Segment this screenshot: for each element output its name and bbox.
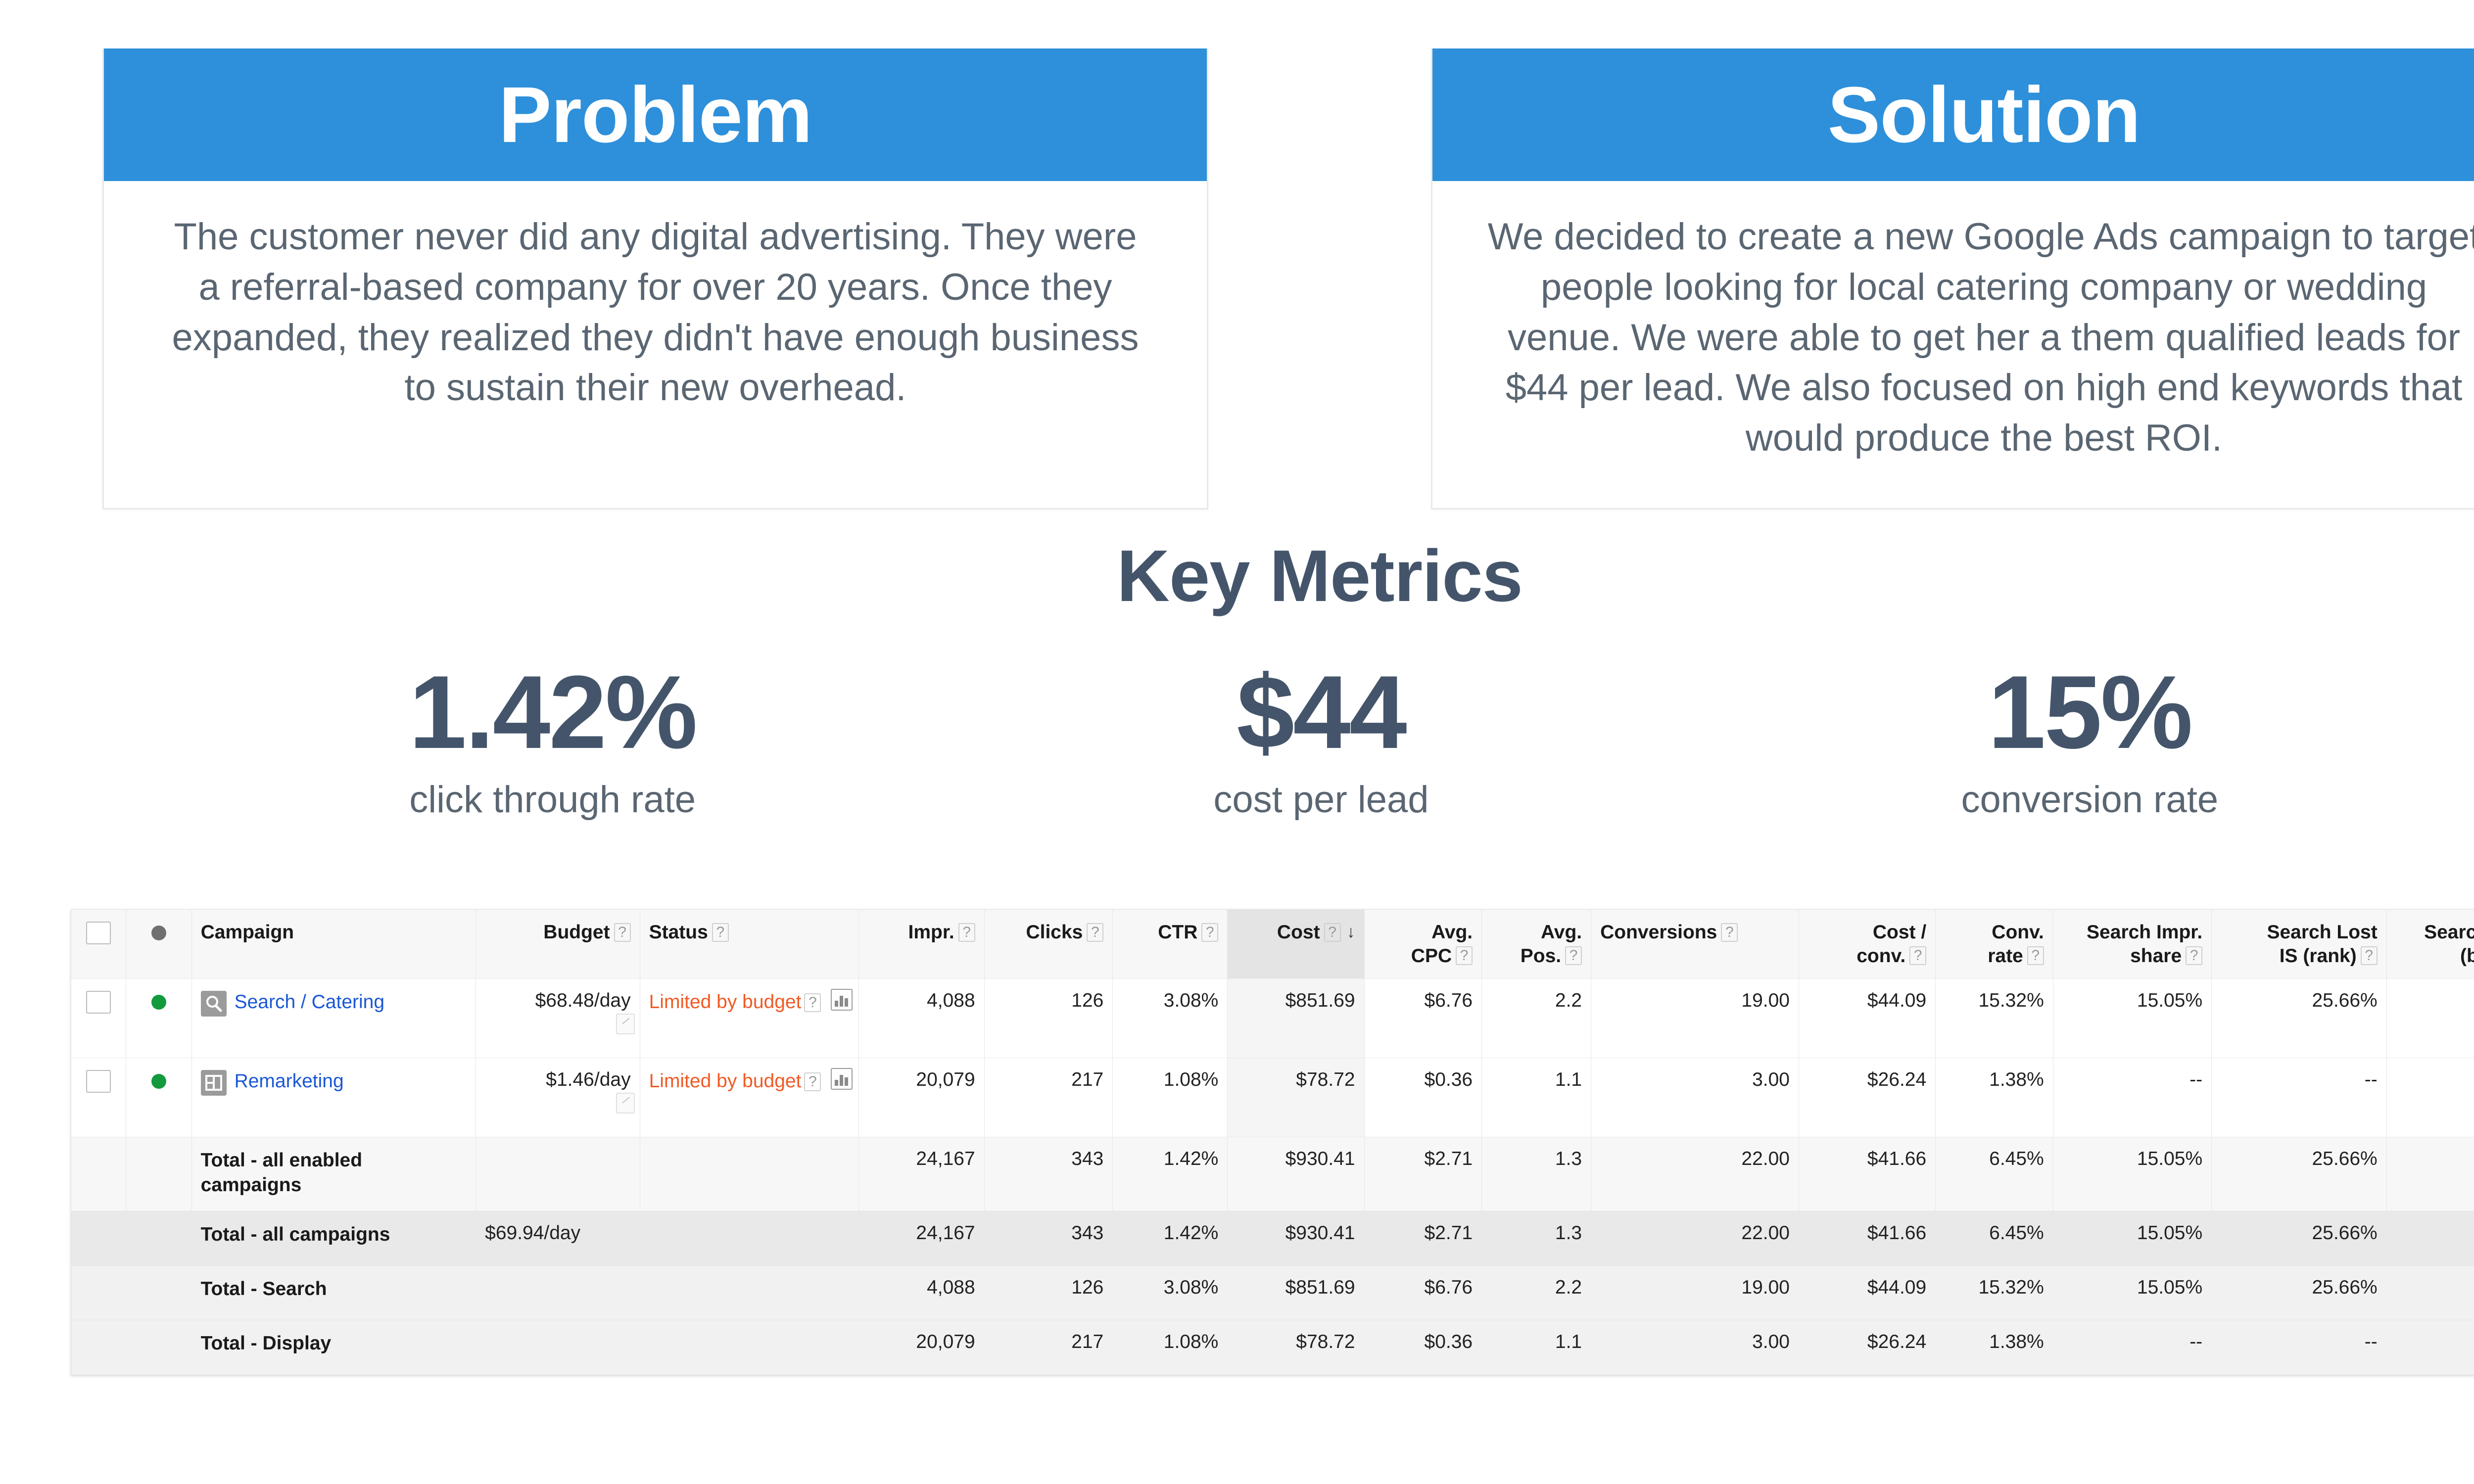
status-cell [640,1320,858,1375]
impressions-cell: 20,079 [858,1320,984,1375]
avg-cpc-cell: $2.71 [1364,1137,1482,1211]
clicks-cell: 217 [984,1058,1113,1137]
table-row[interactable]: Remarketing $1.46/day Limited by budget?… [71,1058,2474,1137]
case-study-page: Problem The customer never did any digit… [0,0,2474,1484]
spacer-cell [71,1266,126,1320]
avg-cpc-cell: $6.76 [1364,979,1482,1058]
avg-cpc-cell: $0.36 [1364,1058,1482,1137]
header-label: Cost [1277,921,1320,944]
search-lost-is-rank-cell: -- [2212,1058,2387,1137]
help-icon[interactable]: ? [1201,923,1218,942]
ctr-cell: 3.08% [1113,979,1228,1058]
header-label: Status [649,921,708,944]
solution-card-header: Solution [1432,48,2474,181]
metric-value: $44 [1024,658,1618,767]
header-label: Cost / [1873,921,1926,944]
cost-cell: $78.72 [1228,1058,1364,1137]
help-icon[interactable]: ? [1324,923,1341,942]
campaign-link[interactable]: Search / Catering [235,990,385,1015]
campaign-link[interactable]: Remarketing [235,1069,344,1094]
metric-click-through-rate: 1.42% click through rate [256,658,850,821]
row-checkbox[interactable] [86,991,111,1014]
help-icon[interactable]: ? [1456,946,1473,965]
cost-cell: $78.72 [1228,1320,1364,1375]
select-all-checkbox[interactable] [86,922,111,944]
cost-cell: $851.69 [1228,1266,1364,1320]
display-icon [201,1070,227,1096]
header-status[interactable]: Status ? [640,910,858,979]
edit-pencil-icon[interactable] [616,1014,635,1034]
status-cell [640,1137,858,1211]
avg-pos-cell: 1.1 [1482,1058,1591,1137]
status-text: Limited by budget [649,1070,802,1092]
avg-pos-cell: 1.1 [1482,1320,1591,1375]
header-search-lost-is-rank[interactable]: Search Lost IS (rank) ? [2212,910,2387,979]
metric-label: conversion rate [1793,778,2386,821]
conversions-cell: 3.00 [1591,1058,1799,1137]
search-lost-is-rank-cell: -- [2212,1320,2387,1375]
spacer-cell [71,1211,126,1266]
impressions-cell: 4,088 [858,1266,984,1320]
ctr-cell: 1.08% [1113,1320,1228,1375]
search-impr-share-cell: -- [2053,1320,2211,1375]
cost-per-conv-cell: $41.66 [1799,1137,1935,1211]
spacer-cell [126,1137,191,1211]
campaigns-table: Campaign Budget ? Status ? [71,910,2474,1375]
header-label: Avg. [1431,921,1473,944]
metric-label: click through rate [256,778,850,821]
search-lost-is-budget-cell: -- [2386,1320,2474,1375]
header-label: Conversions [1600,921,1717,944]
search-lost-is-rank-cell: 25.66% [2212,979,2387,1058]
search-lost-is-budget-cell: 59.29% [2386,1211,2474,1266]
key-metrics-heading: Key Metrics [0,534,2474,618]
metric-cost-per-lead: $44 cost per lead [1024,658,1618,821]
header-label: Impr. [908,921,954,944]
conversions-cell: 3.00 [1591,1320,1799,1375]
conv-rate-cell: 6.45% [1936,1137,2053,1211]
row-select-cell[interactable] [71,979,126,1058]
header-budget[interactable]: Budget ? [476,910,640,979]
header-cost[interactable]: Cost ? ↓ [1228,910,1364,979]
cost-per-conv-cell: $44.09 [1799,1266,1935,1320]
total-label: Total - all campaigns [191,1211,476,1266]
status-cell: Limited by budget? [640,1058,858,1137]
avg-pos-cell: 2.2 [1482,979,1591,1058]
conv-rate-cell: 15.32% [1936,1266,2053,1320]
campaign-name-cell: Remarketing [191,1058,476,1137]
conversions-cell: 19.00 [1591,1266,1799,1320]
bar-chart-icon[interactable] [831,989,853,1011]
impressions-cell: 24,167 [858,1137,984,1211]
budget-cell[interactable]: $68.48/day [476,979,640,1058]
status-cell [640,1266,858,1320]
spacer-cell [126,1211,191,1266]
key-metrics-row: 1.42% click through rate $44 cost per le… [168,658,2474,821]
search-lost-is-rank-cell: 25.66% [2212,1137,2387,1211]
status-cell [640,1211,858,1266]
table-row[interactable]: Search / Catering $68.48/day Limited by … [71,979,2474,1058]
budget-value: $1.46/day [546,1069,630,1090]
cost-cell: $930.41 [1228,1137,1364,1211]
help-icon[interactable]: ? [614,923,631,942]
search-icon [201,991,227,1017]
header-label: Budget [543,921,610,944]
metric-value: 1.42% [256,658,850,767]
cost-per-conv-cell: $41.66 [1799,1211,1935,1266]
solution-card-title: Solution [1828,75,2141,154]
header-label: Campaign [201,921,294,944]
help-icon[interactable]: ? [1721,923,1738,942]
ctr-cell: 3.08% [1113,1266,1228,1320]
impressions-cell: 20,079 [858,1058,984,1137]
select-all-header[interactable] [71,910,126,979]
table-total-row-enabled: Total - all enabled campaigns 24,167 343… [71,1137,2474,1211]
metric-conversion-rate: 15% conversion rate [1793,658,2386,821]
status-enabled-dot-icon [151,995,166,1010]
conversions-cell: 22.00 [1591,1137,1799,1211]
solution-card: Solution We decided to create a new Goog… [1431,48,2474,510]
help-icon[interactable]: ? [1565,946,1582,965]
header-label: Conv. [1992,921,2044,944]
conv-rate-cell: 1.38% [1936,1320,2053,1375]
help-icon[interactable]: ? [1909,946,1926,965]
campaigns-table-container: Campaign Budget ? Status ? [71,909,2474,1375]
header-avg-pos[interactable]: Avg. Pos. ? [1482,910,1591,979]
header-label-line2: IS (rank) [2280,944,2357,968]
cost-per-conv-cell: $44.09 [1799,979,1935,1058]
header-label-line2: share [2130,944,2182,968]
avg-cpc-cell: $0.36 [1364,1320,1482,1375]
ctr-cell: 1.08% [1113,1058,1228,1137]
clicks-cell: 126 [984,979,1113,1058]
avg-cpc-cell: $2.71 [1364,1211,1482,1266]
budget-cell [476,1320,640,1375]
search-impr-share-cell: 15.05% [2053,1266,2211,1320]
header-label: Search Lost IS [2424,921,2474,944]
help-icon[interactable]: ? [804,1072,821,1091]
spacer-cell [71,1137,126,1211]
impressions-cell: 24,167 [858,1211,984,1266]
problem-card-header: Problem [104,48,1207,181]
help-icon[interactable]: ? [958,923,975,942]
cost-cell: $851.69 [1228,979,1364,1058]
help-icon[interactable]: ? [2186,946,2202,965]
header-impressions[interactable]: Impr. ? [858,910,984,979]
help-icon[interactable]: ? [2361,946,2378,965]
status-cell: Limited by budget? [640,979,858,1058]
header-label-line2: (budget) [2460,944,2474,968]
clicks-cell: 343 [984,1137,1113,1211]
header-label-line2: CPC [1411,944,1452,968]
clicks-cell: 126 [984,1266,1113,1320]
cost-per-conv-cell: $26.24 [1799,1320,1935,1375]
avg-pos-cell: 2.2 [1482,1266,1591,1320]
search-impr-share-cell: 15.05% [2053,1137,2211,1211]
header-conversions[interactable]: Conversions ? [1591,910,1799,979]
problem-card-text: The customer never did any digital adver… [158,212,1152,413]
table-total-row-all: Total - all campaigns $69.94/day 24,167 … [71,1211,2474,1266]
status-dot-icon [151,926,166,940]
problem-card: Problem The customer never did any digit… [102,48,1208,510]
avg-pos-cell: 1.3 [1482,1211,1591,1266]
search-lost-is-budget-cell: 59.29% [2386,1266,2474,1320]
campaign-name-cell: Search / Catering [191,979,476,1058]
search-impr-share-cell: 15.05% [2053,979,2211,1058]
problem-solution-cards: Problem The customer never did any digit… [0,48,2474,510]
conversions-cell: 22.00 [1591,1211,1799,1266]
table-total-row-search: Total - Search 4,088 126 3.08% $851.69 $… [71,1266,2474,1320]
header-cost-per-conv[interactable]: Cost / conv. ? [1799,910,1935,979]
ctr-cell: 1.42% [1113,1137,1228,1211]
budget-cell: $69.94/day [476,1211,640,1266]
search-impr-share-cell: -- [2053,1058,2211,1137]
status-enabled-dot-icon [151,1074,166,1089]
row-status-dot-cell [126,1058,191,1137]
bar-chart-icon[interactable] [831,1068,853,1090]
edit-pencil-icon[interactable] [616,1093,635,1113]
metric-label: cost per lead [1024,778,1618,821]
help-icon[interactable]: ? [1087,923,1103,942]
header-clicks[interactable]: Clicks ? [984,910,1113,979]
spacer-cell [126,1320,191,1375]
conv-rate-cell: 6.45% [1936,1211,2053,1266]
header-label-line2: Pos. [1521,944,1561,968]
budget-cell[interactable]: $1.46/day [476,1058,640,1137]
status-dot-header[interactable] [126,910,191,979]
status-text: Limited by budget [649,991,802,1013]
budget-cell [476,1137,640,1211]
header-avg-cpc[interactable]: Avg. CPC ? [1364,910,1482,979]
total-label: Total - Search [191,1266,476,1320]
header-label-line2: rate [1988,944,2023,968]
avg-pos-cell: 1.3 [1482,1137,1591,1211]
solution-card-text: We decided to create a new Google Ads ca… [1487,212,2474,464]
impressions-cell: 4,088 [858,979,984,1058]
help-icon[interactable]: ? [2027,946,2044,965]
spacer-cell [71,1320,126,1375]
search-lost-is-budget-cell: -- [2386,1058,2474,1137]
header-ctr[interactable]: CTR ? [1113,910,1228,979]
budget-cell [476,1266,640,1320]
header-search-impr-share[interactable]: Search Impr. share ? [2053,910,2211,979]
conv-rate-cell: 15.32% [1936,979,2053,1058]
search-lost-is-budget-cell: 59.29% [2386,1137,2474,1211]
row-checkbox[interactable] [86,1070,111,1093]
header-label: Clicks [1026,921,1083,944]
total-label: Total - Display [191,1320,476,1375]
total-label: Total - all enabled campaigns [191,1137,476,1211]
search-lost-is-rank-cell: 25.66% [2212,1211,2387,1266]
conversions-cell: 19.00 [1591,979,1799,1058]
avg-cpc-cell: $6.76 [1364,1266,1482,1320]
cost-per-conv-cell: $26.24 [1799,1058,1935,1137]
cost-cell: $930.41 [1228,1211,1364,1266]
header-label: Avg. [1541,921,1582,944]
help-icon[interactable]: ? [804,993,821,1012]
conv-rate-cell: 1.38% [1936,1058,2053,1137]
search-lost-is-budget-cell: 59.29% [2386,979,2474,1058]
table-header-row: Campaign Budget ? Status ? [71,910,2474,979]
row-status-dot-cell [126,979,191,1058]
header-label: CTR [1158,921,1197,944]
spacer-cell [126,1266,191,1320]
header-campaign[interactable]: Campaign [191,910,476,979]
problem-card-body: The customer never did any digital adver… [104,181,1207,458]
problem-card-title: Problem [499,75,812,154]
header-label-line2: conv. [1856,944,1905,968]
table-total-row-display: Total - Display 20,079 217 1.08% $78.72 … [71,1320,2474,1375]
solution-card-body: We decided to create a new Google Ads ca… [1432,181,2474,508]
header-label: Search Impr. [2087,921,2202,944]
ctr-cell: 1.42% [1113,1211,1228,1266]
clicks-cell: 343 [984,1211,1113,1266]
sort-descending-icon[interactable]: ↓ [1347,923,1355,942]
row-select-cell[interactable] [71,1058,126,1137]
clicks-cell: 217 [984,1320,1113,1375]
header-label: Search Lost [2267,921,2377,944]
help-icon[interactable]: ? [712,923,729,942]
search-impr-share-cell: 15.05% [2053,1211,2211,1266]
budget-value: $68.48/day [535,990,631,1011]
header-conv-rate[interactable]: Conv. rate ? [1936,910,2053,979]
search-lost-is-rank-cell: 25.66% [2212,1266,2387,1320]
metric-value: 15% [1793,658,2386,767]
header-search-lost-is-budget[interactable]: Search Lost IS (budget) ? [2386,910,2474,979]
